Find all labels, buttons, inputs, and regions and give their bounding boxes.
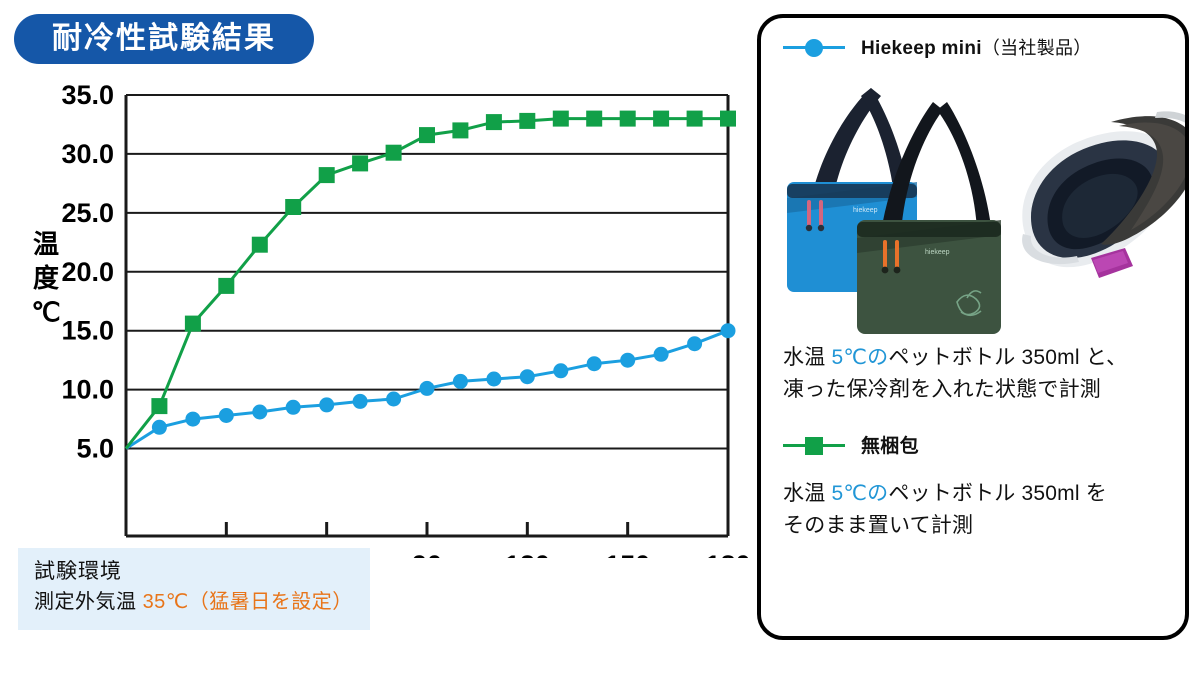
environment-detail: 測定外気温 35℃（猛暑日を設定） (34, 588, 370, 617)
data-point (586, 111, 602, 127)
data-point (553, 111, 569, 127)
data-point (352, 155, 368, 171)
data-point (152, 420, 167, 435)
desc-prod-p2: ペットボトル 350ml と、 (888, 346, 1127, 369)
legend-item-product: Hiekeep mini（当社製品） (761, 18, 1185, 60)
legend-marker-circle-icon (783, 37, 845, 57)
product-info-panel: Hiekeep mini（当社製品） hiekeep (757, 14, 1189, 640)
data-point (353, 394, 368, 409)
svg-text:hiekeep: hiekeep (853, 207, 878, 214)
product-description-line1: 水温 5℃のペットボトル 350ml と、 (783, 342, 1167, 374)
data-point (151, 398, 167, 414)
data-point (286, 400, 301, 415)
data-point (252, 405, 267, 420)
x-tick-label: 180 (705, 550, 750, 558)
data-point (687, 111, 703, 127)
data-point (520, 369, 535, 384)
product-description: 水温 5℃のペットボトル 350ml と、 凍った保冷剤を入れた状態で計測 (761, 342, 1185, 405)
data-point (420, 381, 435, 396)
data-point (453, 374, 468, 389)
bare-description-line1: 水温 5℃のペットボトル 350ml を (783, 478, 1167, 510)
data-point (720, 111, 736, 127)
data-point (218, 278, 234, 294)
product-photo-illustration: hiekeep hiekeep (761, 62, 1189, 342)
y-tick-label: 25.0 (61, 198, 114, 228)
x-tick-label: 150 (605, 550, 650, 558)
test-environment-box: 試験環境 測定外気温 35℃（猛暑日を設定） (18, 548, 370, 630)
desc-bare-p1: 水温 (783, 482, 831, 505)
x-tick-label: 120 (505, 550, 550, 558)
desc-prod-highlight: 5℃の (831, 346, 888, 369)
legend-marker-square-icon (783, 435, 845, 455)
environment-heading: 試験環境 (34, 558, 370, 586)
y-tick-label: 15.0 (61, 316, 114, 346)
data-point (386, 145, 402, 161)
chart-canvas: 5.010.015.020.025.030.035.00306090120150… (0, 78, 760, 558)
data-point (419, 127, 435, 143)
data-point (620, 353, 635, 368)
y-axis-label: ℃ (31, 297, 60, 327)
slide-root: 耐冷性試験結果 5.010.015.020.025.030.035.003060… (0, 0, 1200, 678)
page-title-badge: 耐冷性試験結果 (14, 14, 314, 64)
y-tick-label: 10.0 (61, 375, 114, 405)
y-tick-label: 5.0 (76, 434, 114, 464)
data-point (452, 122, 468, 138)
product-description-line2: 凍った保冷剤を入れた状態で計測 (783, 374, 1167, 406)
page-title: 耐冷性試験結果 (52, 24, 276, 54)
data-point (486, 372, 501, 387)
y-tick-label: 20.0 (61, 257, 114, 287)
data-point (386, 392, 401, 407)
product-photos: hiekeep hiekeep (761, 62, 1185, 342)
data-point (587, 356, 602, 371)
series-line-2 (126, 119, 728, 449)
environment-detail-highlight: 35℃（猛暑日を設定） (143, 591, 353, 613)
legend-label-product: Hiekeep mini（当社製品） (861, 34, 1092, 60)
y-axis-label: 度 (33, 263, 59, 293)
data-point (185, 412, 200, 427)
environment-detail-prefix: 測定外気温 (34, 591, 143, 613)
svg-text:hiekeep: hiekeep (925, 249, 950, 256)
data-point (319, 397, 334, 412)
data-point (620, 111, 636, 127)
data-point (185, 316, 201, 332)
y-axis-label: 温 (33, 229, 59, 259)
temperature-chart: 5.010.015.020.025.030.035.00306090120150… (0, 78, 760, 558)
data-point (319, 167, 335, 183)
data-point (519, 113, 535, 129)
x-tick-label: 90 (412, 550, 442, 558)
data-point (553, 363, 568, 378)
legend-product-suffix: （当社製品） (982, 38, 1092, 58)
legend-label-bare: 無梱包 (861, 431, 919, 458)
data-point (654, 347, 669, 362)
y-tick-label: 30.0 (61, 139, 114, 169)
desc-bare-p2: ペットボトル 350ml を (888, 482, 1107, 505)
data-point (252, 237, 268, 253)
bare-description-line2: そのまま置いて計測 (783, 510, 1167, 542)
desc-prod-p1: 水温 (783, 346, 831, 369)
data-point (687, 336, 702, 351)
bare-description: 水温 5℃のペットボトル 350ml を そのまま置いて計測 (761, 478, 1185, 541)
data-point (219, 408, 234, 423)
data-point (486, 114, 502, 130)
legend-product-name: Hiekeep mini (861, 38, 982, 59)
data-point (721, 323, 736, 338)
data-point (285, 199, 301, 215)
legend-item-bare: 無梱包 (761, 431, 1185, 458)
data-point (653, 111, 669, 127)
y-tick-label: 35.0 (61, 80, 114, 110)
desc-bare-highlight: 5℃の (831, 482, 888, 505)
